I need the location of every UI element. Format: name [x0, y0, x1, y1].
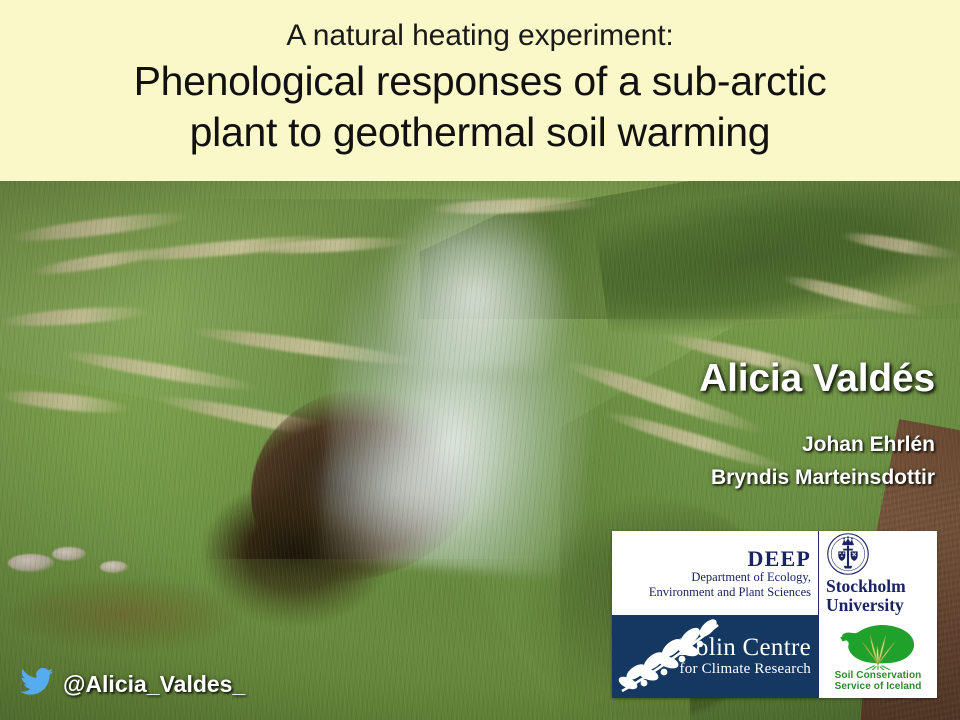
title-band: A natural heating experiment: Phenologic…	[0, 0, 960, 181]
slide-title-line-1: Phenological responses of a sub-arctic	[134, 56, 827, 107]
soil-conservation-line-1: Soil Conservation	[835, 670, 922, 682]
slide-subtitle: A natural heating experiment:	[286, 18, 673, 54]
page-title: Phenological responses of a sub-arctic p…	[134, 56, 827, 158]
soil-conservation-logo: Soil Conservation Service of Iceland	[819, 615, 937, 698]
steam-plume-upper	[380, 189, 570, 369]
stockholm-university-line-1: Stockholm	[826, 577, 906, 596]
slide-title-line-2: plant to geothermal soil warming	[134, 107, 827, 158]
coauthor-name-2: Bryndis Marteinsdottir	[711, 466, 935, 490]
twitter-handle-group[interactable]: @Alicia_Valdes_	[20, 668, 245, 701]
presentation-slide: A natural heating experiment: Phenologic…	[0, 0, 960, 720]
deep-subtitle-line-1: Department of Ecology,	[691, 570, 811, 585]
moss-patch-bottom-left	[10, 579, 240, 649]
soil-conservation-line-2: Service of Iceland	[835, 681, 922, 693]
logo-row-bottom: Bolin Centre for Climate Research	[612, 615, 937, 698]
stockholm-university-logo: STOCKHOLMS UNIVERSITET Stockholm Univers…	[819, 531, 937, 615]
rock	[100, 561, 128, 573]
stockholm-university-line-2: University	[826, 596, 904, 615]
rock	[52, 547, 86, 561]
logo-row-top: DEEP Department of Ecology, Environment …	[612, 531, 937, 615]
rock	[8, 554, 54, 572]
logo-panel: DEEP Department of Ecology, Environment …	[612, 531, 937, 698]
twitter-bird-icon	[20, 668, 54, 701]
bolin-centre-logo: Bolin Centre for Climate Research	[612, 615, 819, 698]
presenter-name: Alicia Valdés	[699, 357, 935, 401]
bolin-centre-line-1: Bolin Centre	[679, 635, 811, 661]
bolin-centre-line-2: for Climate Research	[679, 661, 811, 678]
iceland-map-with-lyme-grass-icon	[835, 620, 921, 670]
twitter-handle-text: @Alicia_Valdes_	[63, 671, 245, 698]
stockholm-university-seal-icon: STOCKHOLMS UNIVERSITET	[826, 532, 870, 576]
deep-subtitle-line-2: Environment and Plant Sciences	[649, 585, 811, 600]
deep-acronym: DEEP	[748, 547, 811, 570]
deep-logo: DEEP Department of Ecology, Environment …	[612, 531, 819, 615]
bolin-centre-text: Bolin Centre for Climate Research	[679, 635, 811, 678]
coauthor-name-1: Johan Ehrlén	[802, 433, 935, 457]
